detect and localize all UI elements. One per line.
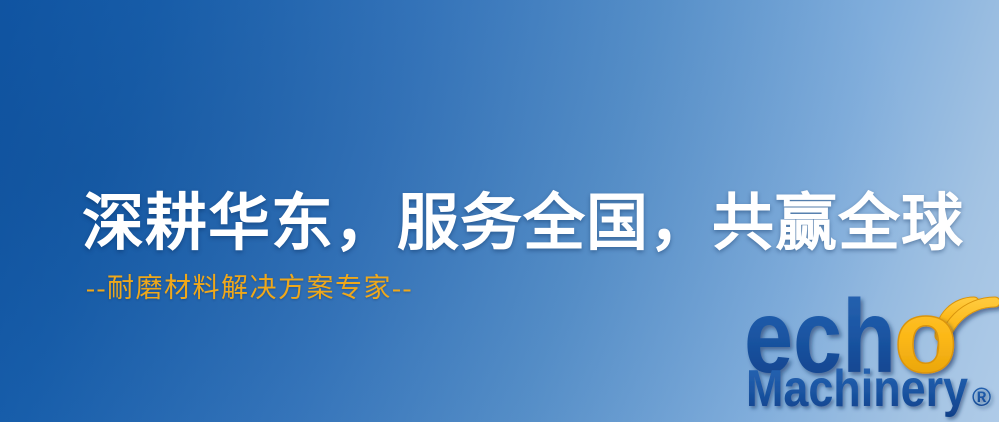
promo-banner: 深耕华东，服务全国，共赢全球 --耐磨材料解决方案专家-- — [0, 0, 999, 422]
banner-subtitle: --耐磨材料解决方案专家-- — [86, 266, 413, 305]
logo-registered-mark: ® — [972, 382, 991, 412]
echo-machinery-logo[interactable]: ech o Machinery ® — [744, 292, 999, 422]
banner-headline: 深耕华东，服务全国，共赢全球 — [82, 192, 964, 258]
machinery-tagline-icon: Machinery ® — [746, 358, 999, 422]
logo-machinery-text: Machinery — [746, 360, 968, 418]
